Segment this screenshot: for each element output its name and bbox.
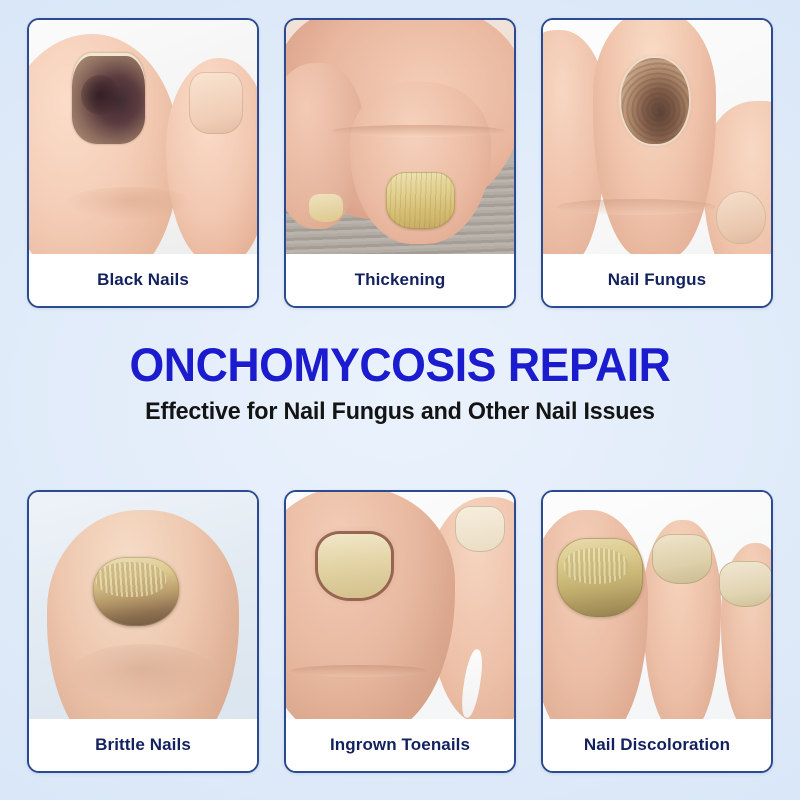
condition-card-ingrown-toenails[interactable]: Ingrown Toenails: [284, 490, 516, 773]
condition-card-brittle-nails[interactable]: Brittle Nails: [27, 490, 259, 773]
card-row-top: Black Nails Thickening: [0, 18, 800, 308]
condition-label-thickening: Thickening: [286, 254, 514, 306]
condition-label-text: Thickening: [355, 270, 446, 290]
condition-card-thickening[interactable]: Thickening: [284, 18, 516, 308]
condition-card-black-nails[interactable]: Black Nails: [27, 18, 259, 308]
page-subtitle: Effective for Nail Fungus and Other Nail…: [12, 398, 788, 426]
condition-card-nail-fungus[interactable]: Nail Fungus: [541, 18, 773, 308]
condition-label-text: Nail Fungus: [608, 270, 706, 290]
headline-block: ONCHOMYCOSIS REPAIR Effective for Nail F…: [0, 340, 800, 426]
condition-label-ingrown-toenails: Ingrown Toenails: [286, 719, 514, 771]
condition-label-nail-fungus: Nail Fungus: [543, 254, 771, 306]
condition-label-text: Black Nails: [97, 270, 189, 290]
condition-label-nail-discoloration: Nail Discoloration: [543, 719, 771, 771]
page-title: ONCHOMYCOSIS REPAIR: [20, 340, 780, 389]
promo-banner: Black Nails Thickening: [0, 0, 800, 800]
condition-photo-nail-discoloration: [543, 492, 771, 723]
condition-label-text: Ingrown Toenails: [330, 735, 470, 755]
condition-label-text: Brittle Nails: [95, 735, 191, 755]
condition-label-text: Nail Discoloration: [584, 735, 730, 755]
condition-photo-nail-fungus: [543, 20, 771, 258]
condition-label-brittle-nails: Brittle Nails: [29, 719, 257, 771]
condition-photo-black-nails: [29, 20, 257, 258]
condition-label-black-nails: Black Nails: [29, 254, 257, 306]
card-row-bottom: Brittle Nails Ingrown Toenails: [0, 490, 800, 773]
condition-card-nail-discoloration[interactable]: Nail Discoloration: [541, 490, 773, 773]
condition-photo-thickening: [286, 20, 514, 258]
condition-photo-brittle-nails: [29, 492, 257, 723]
condition-photo-ingrown-toenails: [286, 492, 514, 723]
